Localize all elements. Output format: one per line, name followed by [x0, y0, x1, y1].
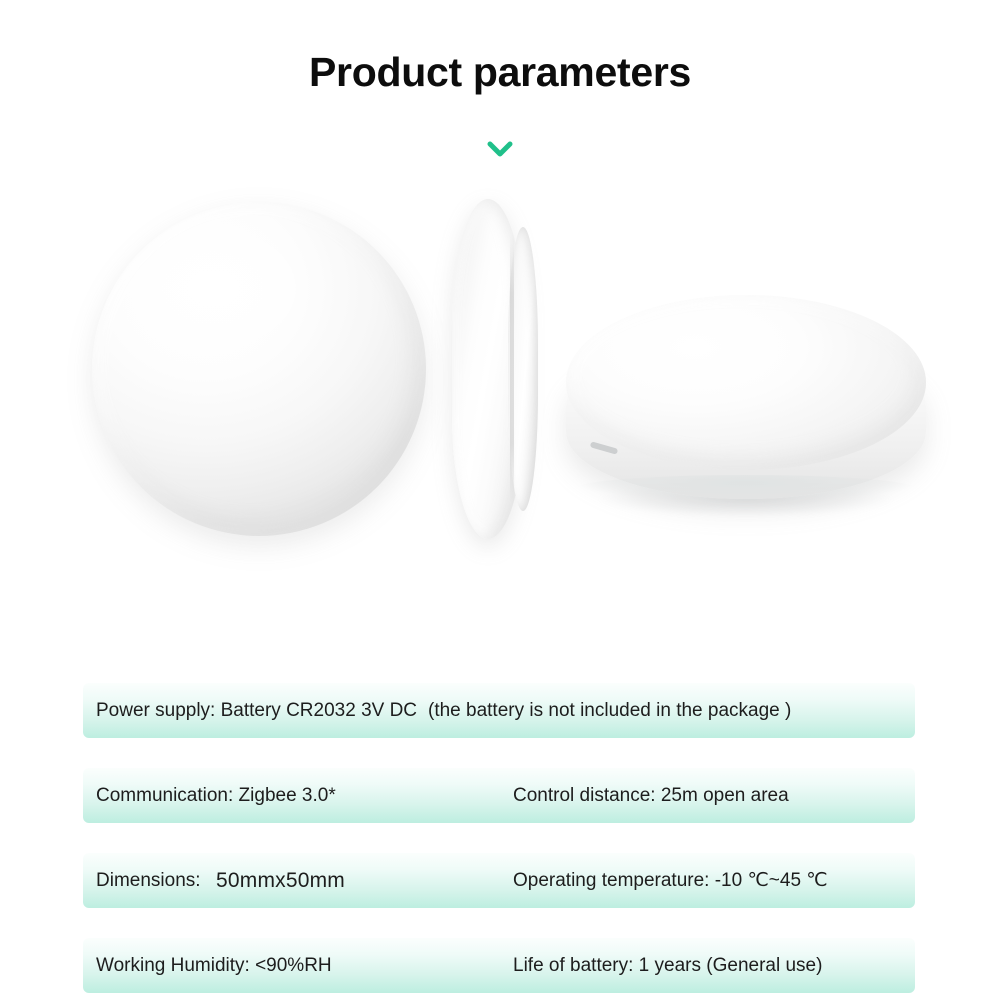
- product-side-view: [452, 199, 546, 539]
- spec-power-supply-note: (the battery is not included in the pack…: [428, 701, 791, 720]
- spec-control-distance-label: Control distance: 25m open area: [513, 786, 789, 805]
- spec-operating-temperature-label: Operating temperature: -10 ℃~45 ℃: [513, 871, 828, 890]
- product-image-group: [0, 175, 1000, 615]
- spec-communication-label: Communication: Zigbee 3.0*: [96, 786, 336, 805]
- spec-dimensions-value: 50mmx50mm: [208, 870, 345, 891]
- spec-battery-life-label: Life of battery: 1 years (General use): [513, 956, 822, 975]
- product-perspective-view: [566, 295, 926, 545]
- chevron-down-icon: [485, 139, 515, 159]
- spec-dimensions-label: Dimensions:: [96, 871, 201, 890]
- spec-working-humidity-label: Working Humidity: <90%RH: [96, 956, 332, 975]
- side-view-seam: [510, 235, 514, 503]
- product-top-view: [92, 202, 426, 536]
- spec-table: Power supply: Battery CR2032 3V DC (the …: [83, 683, 915, 993]
- spec-row-humidity: Working Humidity: <90%RH Life of battery…: [83, 938, 915, 993]
- chevron-container: [0, 134, 1000, 164]
- perspective-view-topface: [566, 295, 926, 470]
- spec-row-power-supply: Power supply: Battery CR2032 3V DC (the …: [83, 683, 915, 738]
- page-title: Product parameters: [0, 50, 1000, 95]
- spec-row-dimensions: Dimensions: 50mmx50mm Operating temperat…: [83, 853, 915, 908]
- spec-row-communication: Communication: Zigbee 3.0* Control dista…: [83, 768, 915, 823]
- spec-power-supply-label: Power supply: Battery CR2032 3V DC: [96, 701, 417, 720]
